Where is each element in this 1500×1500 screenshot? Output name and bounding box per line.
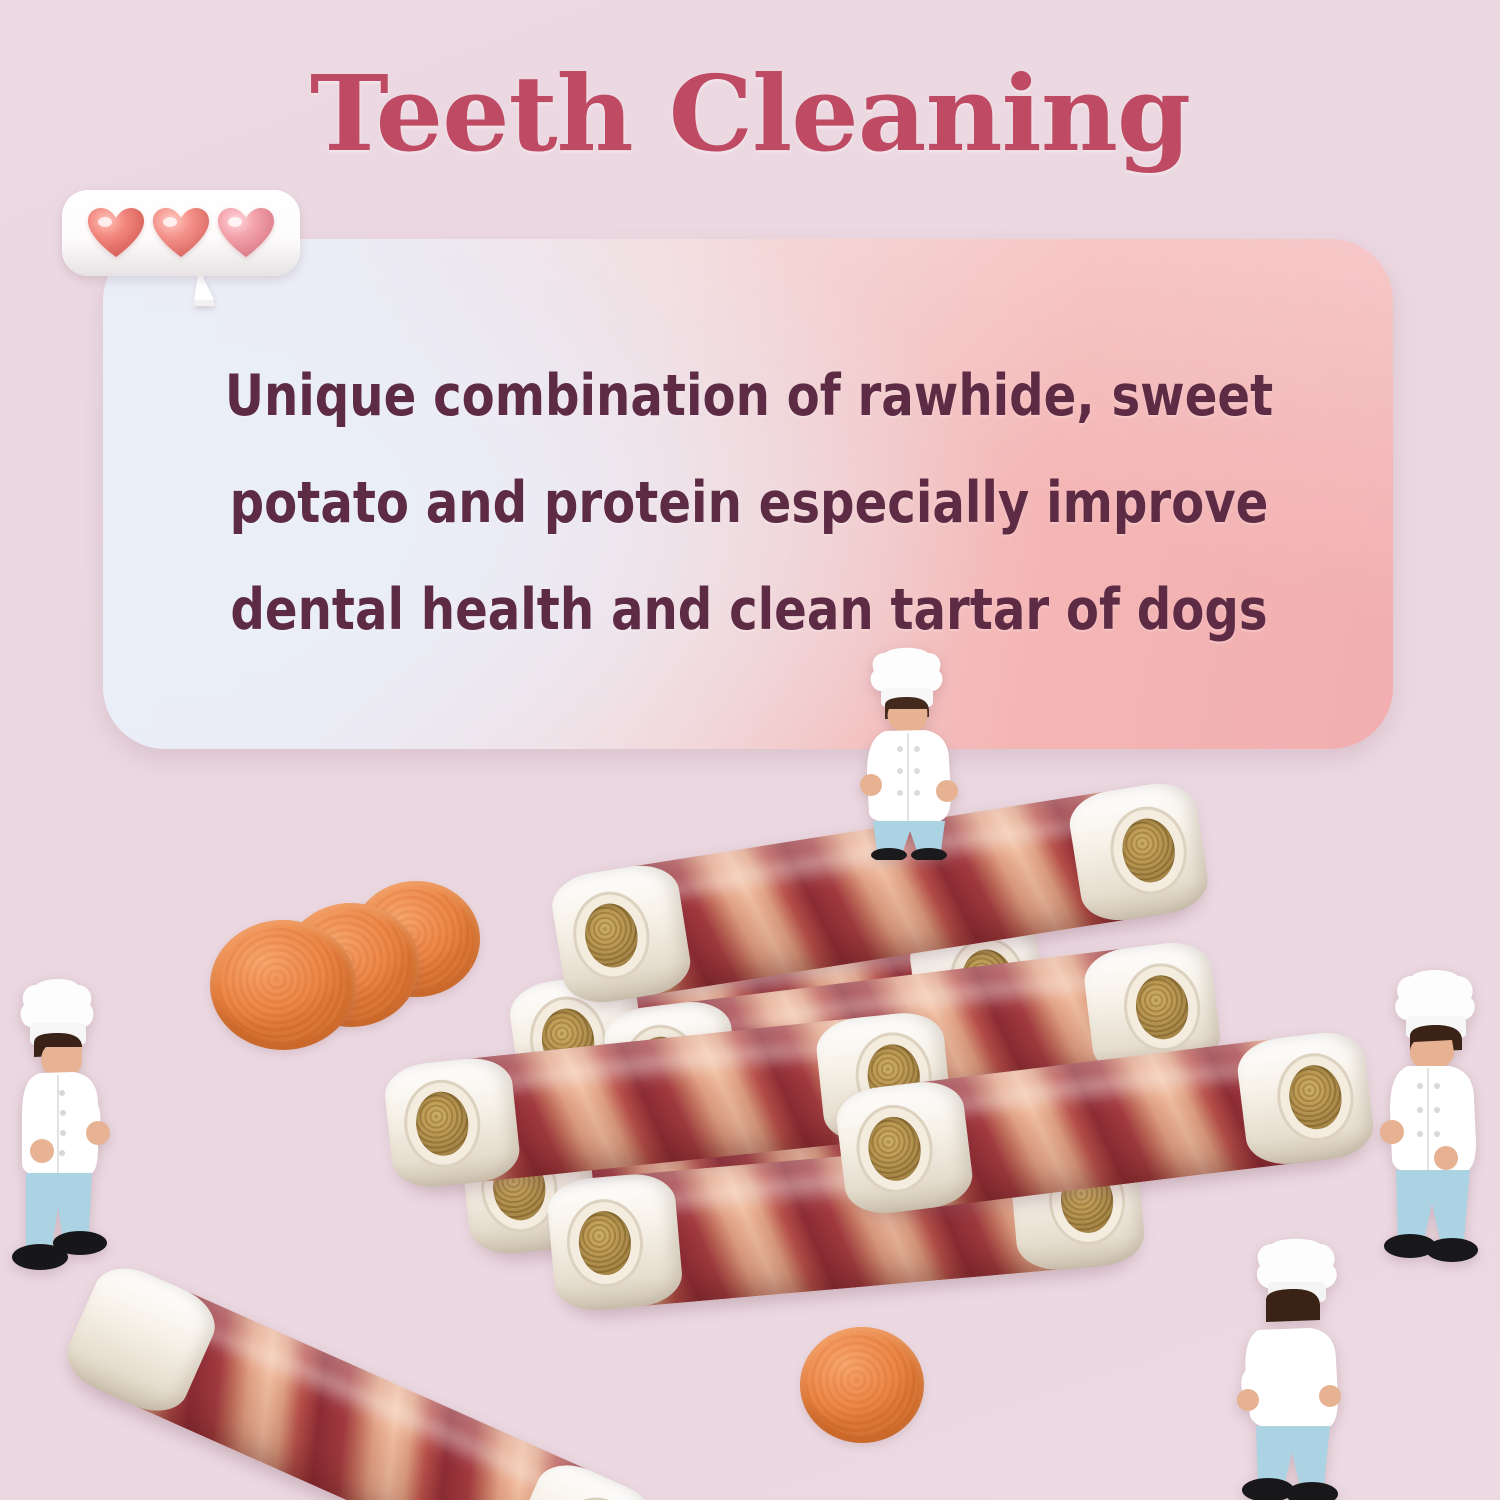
sweet-potato-slice bbox=[210, 920, 356, 1050]
info-line-3: dental health and clean tartar of dogs bbox=[198, 557, 1300, 664]
page-title: Teeth Cleaning bbox=[0, 52, 1500, 175]
roll-end-cap bbox=[499, 1453, 667, 1500]
info-card-text: Unique combination of rawhide, sweet pot… bbox=[198, 343, 1300, 664]
heart-icon bbox=[217, 207, 275, 259]
sweet-potato-slice bbox=[800, 1327, 924, 1443]
chef-figurine bbox=[1230, 1238, 1362, 1500]
chef-figurine bbox=[855, 645, 965, 860]
chef-figurine bbox=[0, 975, 120, 1280]
three-hearts-speech-bubble bbox=[62, 190, 300, 276]
info-card: Unique combination of rawhide, sweet pot… bbox=[103, 239, 1393, 749]
product-infographic-canvas: Teeth Cleaning Unique combination of raw… bbox=[0, 0, 1500, 1500]
chef-figurine bbox=[1372, 968, 1494, 1263]
roll-end-cap bbox=[57, 1256, 225, 1423]
heart-icon bbox=[152, 207, 210, 259]
heart-icon bbox=[87, 207, 145, 259]
info-line-1: Unique combination of rawhide, sweet bbox=[198, 343, 1300, 450]
info-line-2: potato and protein especially improve bbox=[198, 450, 1300, 557]
roll-gloss bbox=[161, 1304, 589, 1500]
